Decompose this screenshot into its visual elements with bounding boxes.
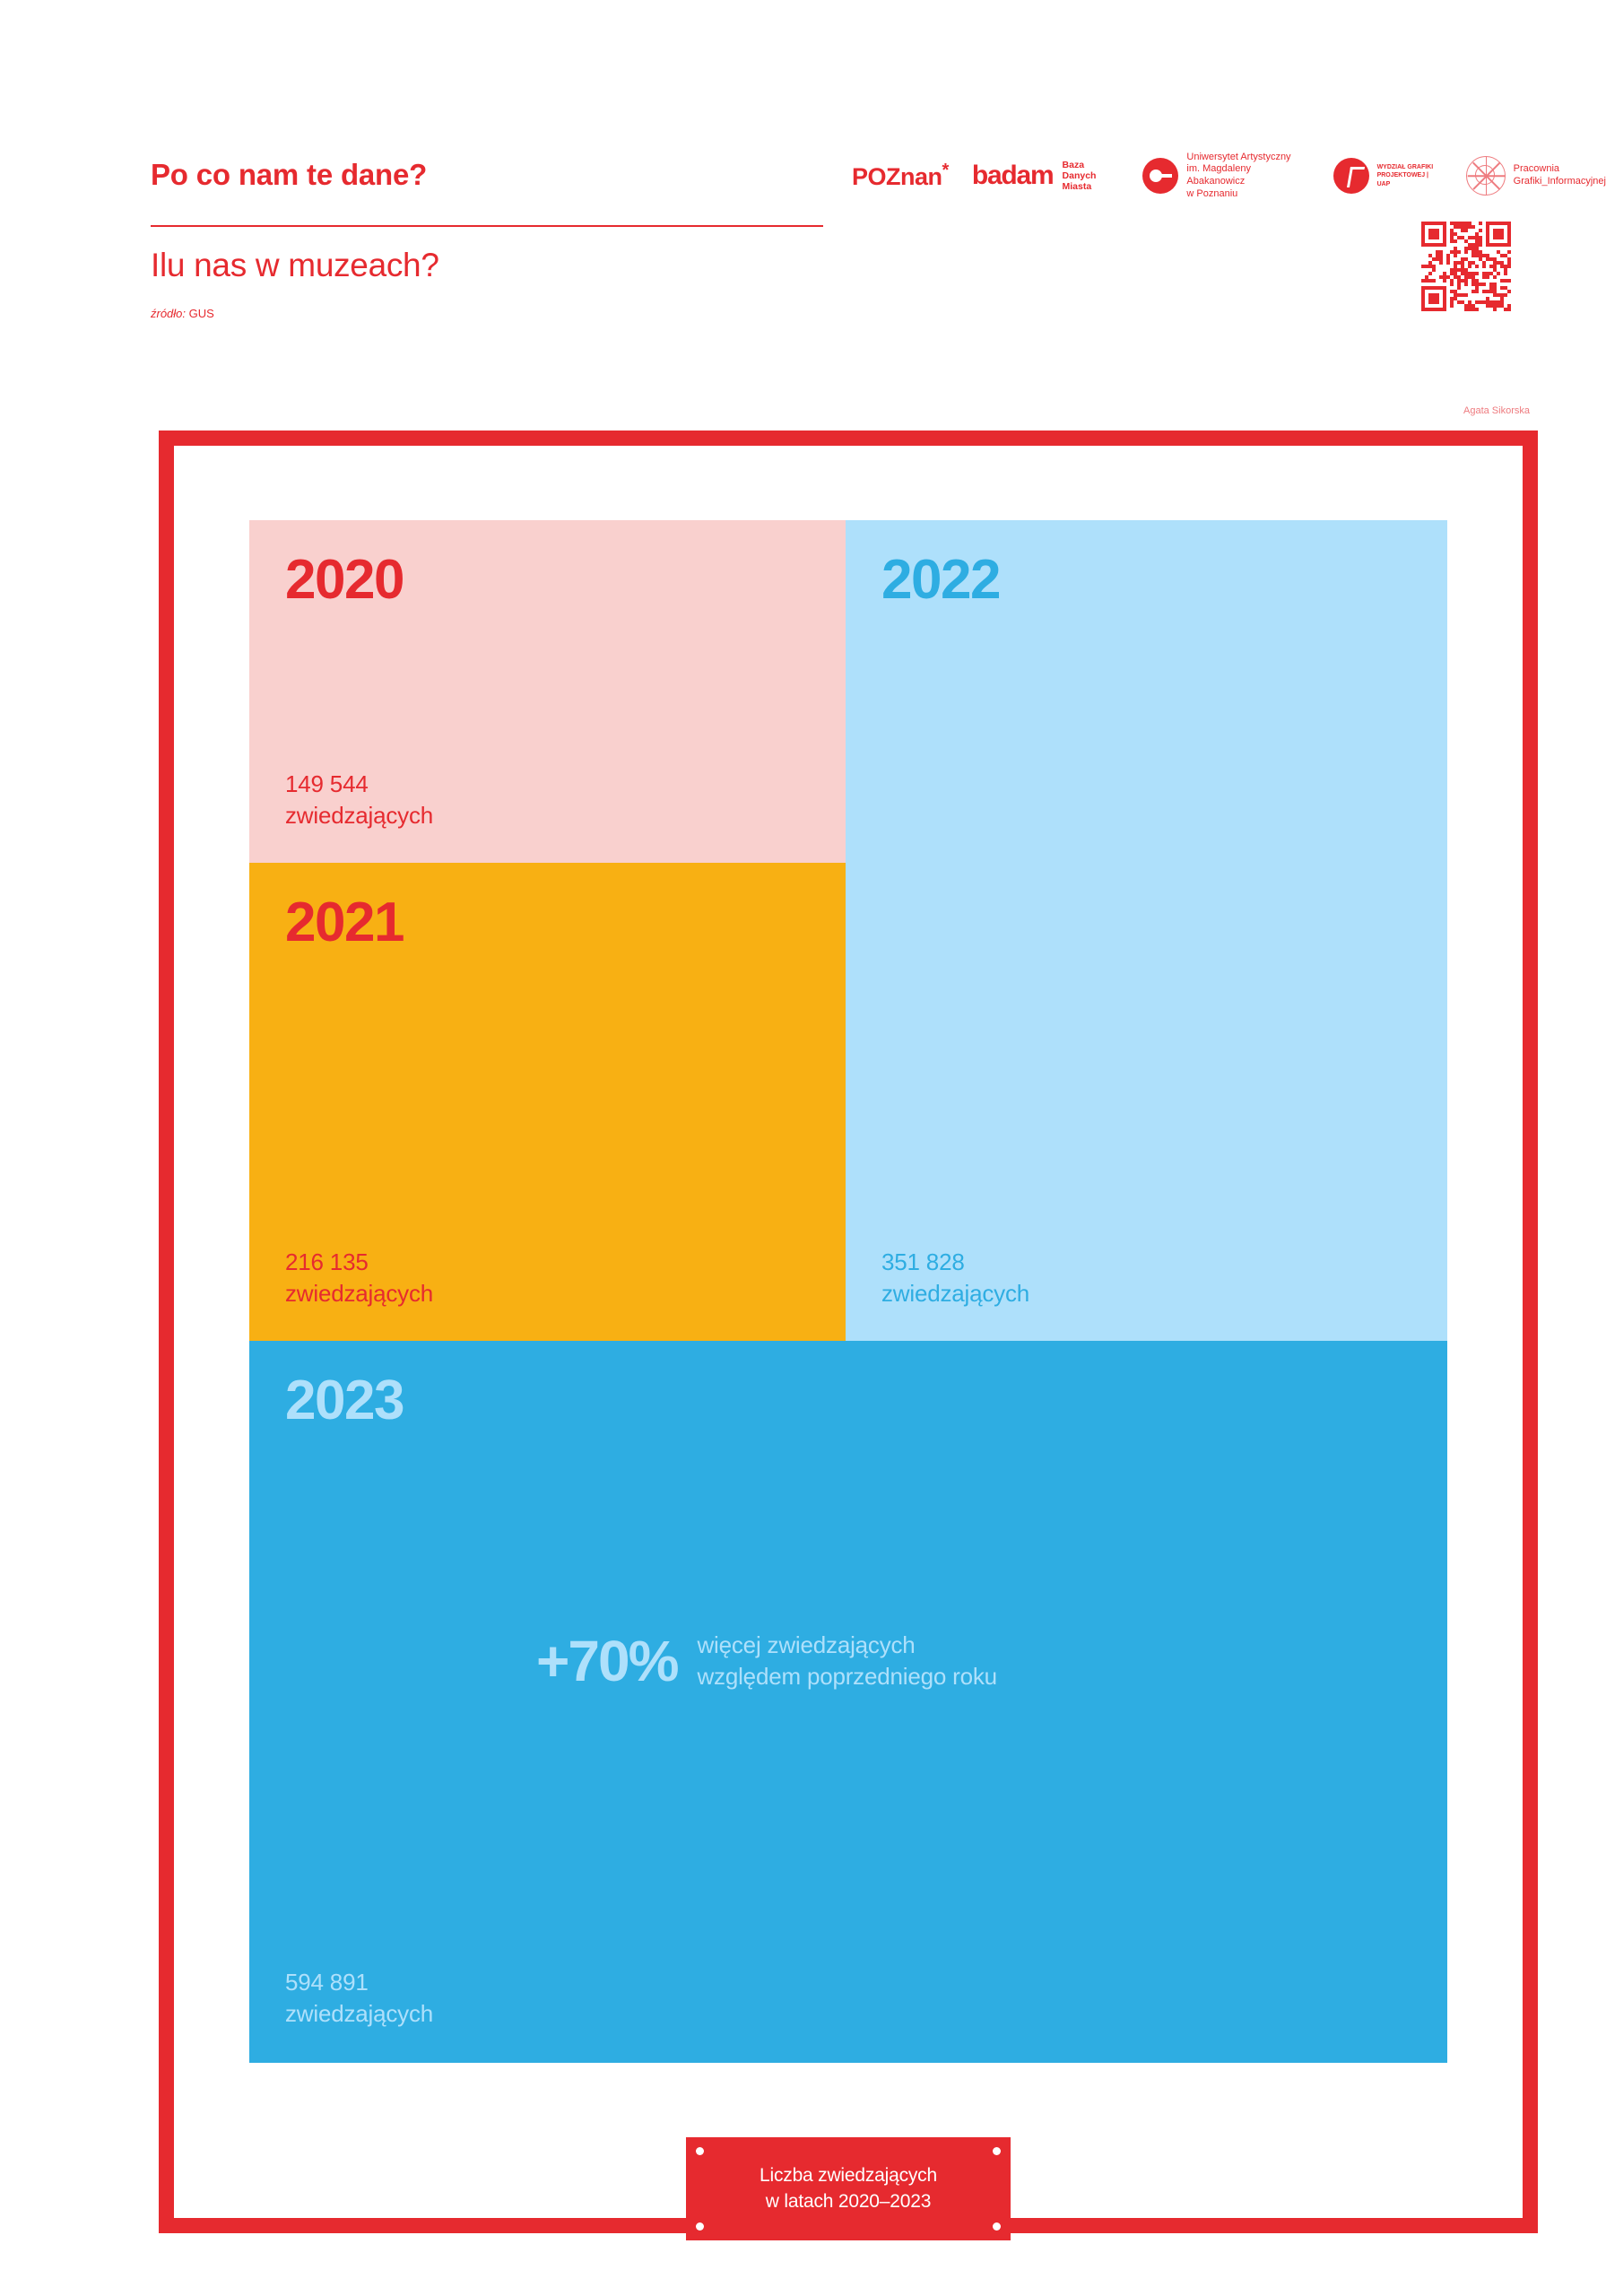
treemap-cell-year: 2020 (285, 552, 404, 608)
pracownia-grafiki-logo[interactable]: Pracownia Grafiki_Informacyjnej (1466, 156, 1606, 196)
treemap-cell-year: 2021 (285, 895, 404, 951)
treemap-cell-value: 351 828 zwiedzających (881, 1247, 1029, 1309)
badam-logo[interactable]: badam Baza Danych Miasta (972, 160, 1120, 192)
growth-description: więcej zwiedzających względem poprzednie… (697, 1630, 996, 1692)
source-value: GUS (186, 307, 214, 320)
growth-annotation: +70% więcej zwiedzających względem poprz… (536, 1630, 997, 1692)
treemap-cell-value: 149 544 zwiedzających (285, 769, 433, 831)
qr-code-icon[interactable] (1421, 222, 1511, 311)
page-kicker-title: Po co nam te dane? (151, 158, 427, 192)
ring-icon (1466, 156, 1506, 196)
poznan-wordmark: POZnan* (852, 161, 949, 191)
treemap-cell-year: 2022 (881, 552, 1000, 608)
treemap-cell-value: 594 891 zwiedzających (285, 1967, 433, 2029)
header-divider (151, 225, 823, 227)
wydzial-grafiki-logo[interactable]: WYDZIAŁ GRAFIKI PROJEKTOWEJ | UAP (1333, 158, 1443, 194)
chart-caption-text: Liczba zwiedzających w latach 2020–2023 (686, 2137, 1011, 2240)
treemap-cell-value: 216 135 zwiedzających (285, 1247, 433, 1309)
wydzial-grafiki-caption: WYDZIAŁ GRAFIKI PROJEKTOWEJ | UAP (1377, 163, 1443, 187)
badam-caption: Baza Danych Miasta (1063, 160, 1120, 192)
author-credit: Agata Sikorska (1463, 405, 1530, 416)
source-note: źródło: GUS (151, 307, 214, 320)
poznan-wordmark-text: POZnan (852, 163, 942, 190)
treemap-cell-2023[interactable]: 2023 +70% więcej zwiedzających względem … (249, 1341, 1447, 2063)
pracownia-grafiki-caption: Pracownia Grafiki_Informacyjnej (1514, 163, 1606, 188)
partner-logo-strip: POZnan* badam Baza Danych Miasta Uniwers… (852, 151, 1606, 201)
treemap-cell-2021[interactable]: 2021 216 135 zwiedzających (249, 863, 846, 1341)
treemap-cell-2020[interactable]: 2020 149 544 zwiedzających (249, 520, 846, 863)
source-label: źródło: (151, 307, 186, 320)
key-circle-icon (1142, 158, 1178, 194)
treemap-cell-year: 2023 (285, 1373, 404, 1429)
treemap-chart: 2020 149 544 zwiedzających 2021 216 135 … (249, 520, 1447, 2063)
poznan-logo[interactable]: POZnan* (852, 161, 949, 191)
header: Po co nam te dane? Ilu nas w muzeach? źr… (0, 0, 1606, 430)
growth-percent: +70% (536, 1632, 677, 1690)
chart-caption-plate: Liczba zwiedzających w latach 2020–2023 (686, 2137, 1011, 2240)
asterisk-icon: * (942, 161, 949, 180)
uniwersytet-artystyczny-logo[interactable]: Uniwersytet Artystyczny im. Magdaleny Ab… (1142, 152, 1309, 201)
treemap-cell-2022[interactable]: 2022 351 828 zwiedzających (846, 520, 1447, 1341)
badam-wordmark: badam (972, 161, 1054, 191)
uniwersytet-artystyczny-caption: Uniwersytet Artystyczny im. Magdaleny Ab… (1186, 152, 1309, 201)
uap-circle-icon (1333, 158, 1369, 194)
page-title: Ilu nas w muzeach? (151, 247, 439, 284)
